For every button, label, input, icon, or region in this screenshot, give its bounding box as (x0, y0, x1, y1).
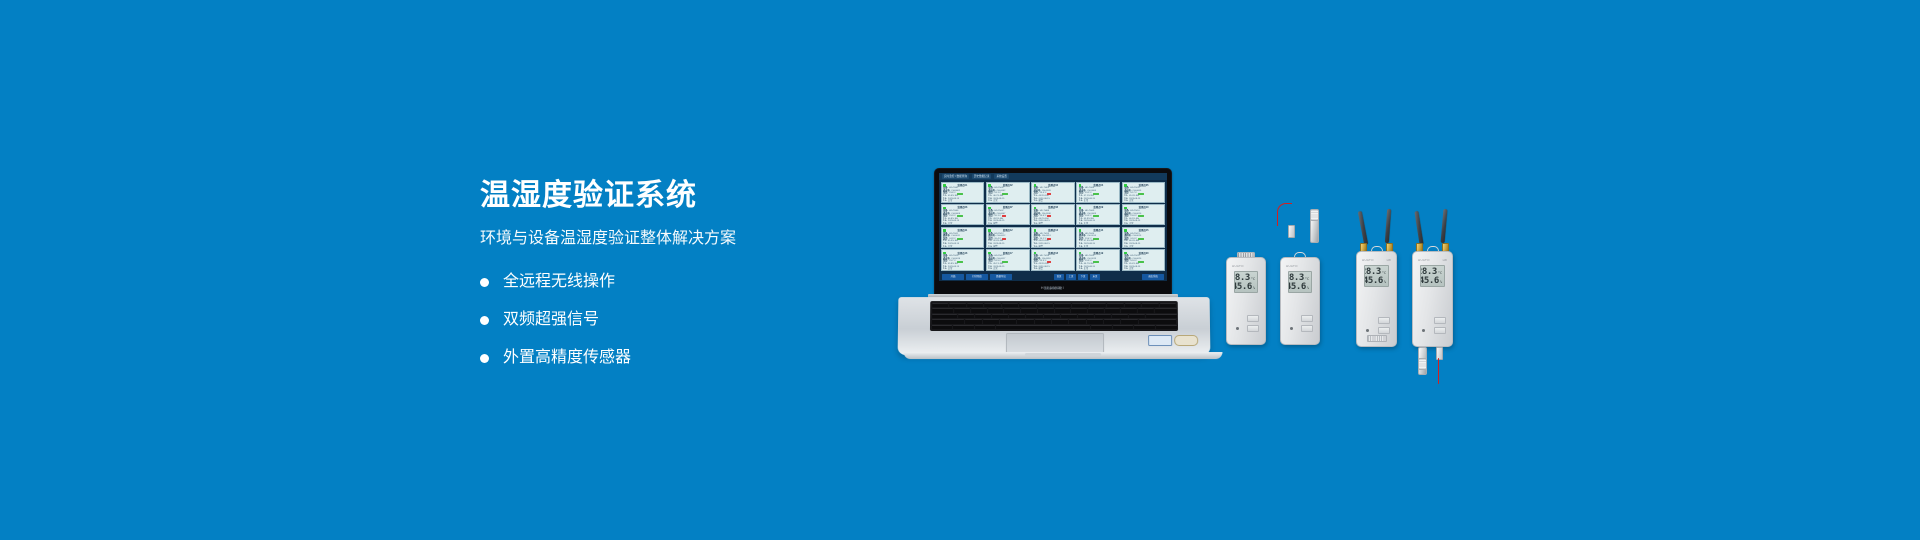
monitor-card[interactable]: 监测点19设备:HD-TH19通道号:CH-0019温度:23.3°CT-1:4… (1076, 249, 1120, 270)
device-brand: HUATO (1286, 264, 1298, 268)
monitor-card-row-value: 正常 (993, 200, 997, 202)
monitor-card-row: T-3:报警 (1034, 223, 1073, 225)
probe-connector (1288, 225, 1295, 238)
monitor-card-title: 监测点14 (1079, 229, 1118, 232)
monitor-card-row-key: T-3: (988, 246, 992, 248)
monitor-card-row: T-3:正常 (943, 246, 982, 248)
device-body: HUATO H8 28.3 °C 45.6 % MIN MAX (1412, 251, 1453, 347)
monitor-card[interactable]: 监测点06设备:HD-TH06通道号:CH-0006温度:23.9°CT-1:4… (941, 204, 985, 225)
monitor-card[interactable]: 监测点09设备:HD-TH09通道号:CH-0009温度:24.3°CT-1:4… (1076, 204, 1120, 225)
device-brand: HUATO (1362, 258, 1374, 262)
monitor-card-row-key: T-3: (1034, 246, 1038, 248)
monitor-card-title: 监测点05 (1124, 184, 1163, 187)
device-led-icon (1422, 329, 1425, 332)
device-brand-row: HUATO H8 (1418, 257, 1447, 262)
lcd-min-label: MIN (1237, 293, 1241, 294)
antenna-left-icon (1414, 211, 1423, 245)
laptop-product-image: 实时监控 / 数据查询 历史数据记录 系统设置 监测点01设备:HD-TH01通… (888, 168, 1218, 363)
monitor-card-row-value: 正常 (948, 223, 952, 225)
status-led-icon (988, 207, 991, 210)
monitor-card-row: T-3:正常 (1124, 200, 1163, 202)
monitor-card-row-key: T-3: (1079, 246, 1083, 248)
device-model: H8 (1443, 258, 1447, 262)
list-item: 外置高精度传感器 (480, 348, 900, 368)
device-lcd-display: 28.3 °C 45.6 % MIN MAX (1234, 271, 1258, 293)
app-footer-toolbar: 开始 打印预览 数据导出 首页 上页 下页 末页 退出系统 (939, 272, 1167, 281)
monitor-card-row-key: T-3: (943, 223, 947, 225)
sensor-vent-icon (1367, 335, 1387, 342)
device-lcd-display: 28.3 °C 45.6 % MIN MAX (1364, 265, 1389, 287)
lcd-humidity-value: 45.6 (1420, 277, 1439, 286)
lcd-min-label: MIN (1367, 287, 1371, 288)
bullet-icon (480, 316, 489, 325)
monitor-card-row-key: T-3: (1079, 268, 1083, 270)
laptop-sticker-spec (1148, 335, 1172, 346)
lcd-min-label: MIN (1423, 287, 1427, 288)
app-menu-bar: 实时监控 / 数据查询 历史数据记录 系统设置 (939, 173, 1167, 180)
monitor-card[interactable]: 监测点13设备:HD-TH13通道号:CH-0013温度:25.2°CT-1:4… (1031, 227, 1075, 248)
device-button-pad[interactable] (1378, 317, 1390, 336)
lcd-humidity-unit: % (1440, 281, 1442, 285)
monitor-grid-wrap: 监测点01设备:HD-TH01通道号:CH-0001温度:23.8°CT-1:4… (939, 180, 1167, 272)
laptop-display: 实时监控 / 数据查询 历史数据记录 系统设置 监测点01设备:HD-TH01通… (939, 173, 1167, 281)
monitor-card[interactable]: 监测点17设备:HD-TH17通道号:CH-0017温度:24.5°CT-1:4… (986, 249, 1030, 270)
exit-button[interactable]: 退出系统 (1142, 274, 1164, 280)
monitor-card-title: 监测点10 (1124, 206, 1163, 209)
monitor-card-row-value: 报警 (1038, 246, 1042, 248)
feature-label: 双频超强信号 (503, 310, 599, 330)
monitor-card-row: T-3:正常 (1079, 246, 1118, 248)
page-title: 温湿度验证系统 (480, 178, 900, 214)
status-led-icon (943, 184, 946, 187)
list-item: 全远程无线操作 (480, 272, 900, 292)
lcd-max-label: MAX (1437, 287, 1442, 288)
monitor-card-row-key: T-3: (943, 200, 947, 202)
monitor-card[interactable]: 监测点05设备:HD-TH05通道号:CH-0005温度:24.7°CT-1:4… (1122, 182, 1166, 203)
keyboard-row (932, 314, 1177, 319)
lcd-humidity-value: 45.6 (1234, 283, 1252, 292)
monitor-card[interactable]: 监测点12设备:HD-TH12通道号:CH-0012温度:26.4°CT-1:4… (986, 227, 1030, 248)
pager-next-button[interactable]: 下页 (1078, 274, 1088, 280)
keyboard-row (932, 308, 1177, 313)
page-subtitle: 环境与设备温湿度验证整体解决方案 (480, 228, 900, 250)
device-button-down[interactable] (1301, 325, 1313, 332)
monitor-card-row-key: T-3: (943, 268, 947, 270)
device-led-icon (1366, 329, 1369, 332)
monitor-card[interactable]: 监测点20设备:HD-TH20通道号:CH-0020温度:24.6°CT-1:4… (1122, 249, 1166, 270)
lcd-humidity-unit: % (1253, 287, 1255, 291)
lcd-min-label: MIN (1291, 293, 1295, 294)
monitor-card-row-value: 报警 (1038, 223, 1042, 225)
probe-cable (1277, 203, 1292, 226)
monitor-card-row-value: 正常 (1084, 268, 1088, 270)
device-button-down[interactable] (1247, 325, 1259, 332)
monitor-card-row-key: T-3: (1034, 200, 1038, 202)
monitor-card-row: T-3:报警 (988, 223, 1027, 225)
laptop-open-notch (1025, 353, 1101, 356)
monitor-card[interactable]: 监测点14设备:HD-TH14通道号:CH-0014温度:23.4°CT-1:4… (1076, 227, 1120, 248)
print-preview-button[interactable]: 打印预览 (966, 274, 988, 280)
monitor-card-title: 监测点03 (1034, 184, 1073, 187)
antenna-right-icon (1441, 209, 1448, 243)
monitor-card-title: 监测点19 (1079, 252, 1118, 255)
monitor-card-title: 监测点15 (1124, 229, 1163, 232)
device-lcd-display: 28.3 °C 45.6 % MIN MAX (1288, 271, 1312, 293)
antenna-right-icon (1385, 209, 1391, 243)
device-body: HUATO 28.3 °C 45.6 % MIN MAX (1226, 257, 1266, 345)
status-led-icon (1034, 229, 1037, 232)
probe-filter-cap-icon (1310, 209, 1318, 221)
status-led-icon (988, 229, 991, 232)
menu-item-history[interactable]: 历史数据记录 (972, 174, 992, 179)
monitor-card-row-value: 报警 (1038, 200, 1042, 202)
lcd-humidity-line: 45.6 % (1423, 277, 1442, 286)
pager-first-button[interactable]: 首页 (1054, 274, 1064, 280)
data-logger-basic: HUATO 28.3 °C 45.6 % MIN MAX (1226, 257, 1266, 345)
monitor-card-title: 监测点07 (988, 206, 1027, 209)
monitor-card-row-key: T-3: (1034, 268, 1038, 270)
antenna-left-icon (1358, 211, 1368, 245)
device-brand-row: HUATO (1286, 263, 1314, 268)
lcd-max-label: MAX (1381, 287, 1386, 288)
device-button-down[interactable] (1378, 327, 1390, 334)
monitor-card-row-value: 正常 (1129, 223, 1133, 225)
monitor-card-title: 监测点18 (1034, 252, 1073, 255)
monitor-card[interactable]: 监测点03设备:HD-TH03通道号:CH-0003温度:25.4°CT-1:4… (1031, 182, 1075, 203)
device-button-up[interactable] (1378, 317, 1390, 324)
monitor-card-row: T-3:正常 (988, 268, 1027, 270)
device-body: HUATO 28.3 °C 45.6 % MIN MAX (1280, 257, 1320, 345)
keyboard-row (932, 303, 1177, 308)
device-product-images: HUATO 28.3 °C 45.6 % MIN MAX (1220, 215, 1520, 405)
monitor-card-row: T-3:报警 (988, 246, 1027, 248)
wireless-logger-right: HUATO H8 28.3 °C 45.6 % MIN MAX (1412, 251, 1453, 347)
monitor-card-row-value: 报警 (1038, 268, 1042, 270)
lcd-minmax-row: MIN MAX (1423, 287, 1442, 288)
monitor-card[interactable]: 监测点08设备:HD-TH08通道号:CH-0008温度:25.8°CT-1:4… (1031, 204, 1075, 225)
monitor-card-row-key: T-3: (1124, 268, 1128, 270)
lcd-humidity-line: 45.6 % (1367, 277, 1386, 286)
monitor-card-row-key: T-3: (1124, 223, 1128, 225)
monitor-card-row: T-3:报警 (1034, 200, 1073, 202)
device-led-icon (1236, 327, 1239, 330)
device-model: H8 (1387, 258, 1391, 262)
feature-label: 全远程无线操作 (503, 272, 615, 292)
monitor-card-title: 监测点09 (1079, 206, 1118, 209)
probe-filter-cap-icon (1418, 358, 1426, 370)
keyboard-row (931, 325, 1176, 330)
monitor-card-row-key: T-3: (943, 246, 947, 248)
laptop-trackpad[interactable] (1006, 333, 1104, 353)
monitor-card-title: 监测点06 (943, 206, 982, 209)
lcd-humidity-unit: % (1384, 281, 1386, 285)
monitor-card-row-key: T-3: (1079, 200, 1083, 202)
start-button[interactable]: 开始 (942, 274, 964, 280)
wireless-logger-left: HUATO H8 28.3 °C 45.6 % MIN MAX (1356, 251, 1397, 347)
monitor-card[interactable]: 监测点02设备:HD-TH02通道号:CH-0002温度:24.1°CT-1:4… (986, 182, 1030, 203)
monitoring-app: 实时监控 / 数据查询 历史数据记录 系统设置 监测点01设备:HD-TH01通… (939, 173, 1167, 281)
monitor-card-row-value: 正常 (993, 268, 997, 270)
lcd-humidity-value: 45.6 (1288, 283, 1306, 292)
monitor-card-row-key: T-3: (988, 268, 992, 270)
device-lcd-display: 28.3 °C 45.6 % MIN MAX (1420, 265, 1445, 287)
device-button-pad[interactable] (1434, 317, 1446, 336)
monitor-card-row: T-3:正常 (943, 200, 982, 202)
monitor-card-row-value: 正常 (1084, 200, 1088, 202)
monitor-card-row: T-3:正常 (1124, 246, 1163, 248)
product-banner: 温湿度验证系统 环境与设备温湿度验证整体解决方案 全远程无线操作 双频超强信号 … (0, 0, 1920, 540)
status-led-icon (943, 229, 946, 232)
status-led-icon (988, 184, 991, 187)
lcd-humidity-unit: % (1307, 287, 1309, 291)
probe-cable (1438, 358, 1439, 384)
bullet-icon (480, 354, 489, 363)
monitor-card-row: T-3:正常 (943, 223, 982, 225)
pager-prev-button[interactable]: 上页 (1066, 274, 1076, 280)
monitor-card[interactable]: 监测点01设备:HD-TH01通道号:CH-0001温度:23.8°CT-1:4… (941, 182, 985, 203)
device-button-up[interactable] (1434, 317, 1446, 324)
list-item: 双频超强信号 (480, 310, 900, 330)
monitor-card-row-key: T-3: (1034, 223, 1038, 225)
device-brand: HUATO (1232, 264, 1244, 268)
monitor-card-row: T-3:正常 (943, 268, 982, 270)
monitor-card-title: 监测点16 (943, 252, 982, 255)
monitor-card-title: 监测点20 (1124, 252, 1163, 255)
banner-copy: 温湿度验证系统 环境与设备温湿度验证整体解决方案 全远程无线操作 双频超强信号 … (480, 178, 900, 386)
device-brand-row: HUATO H8 (1362, 257, 1391, 262)
monitor-card-row: T-3:报警 (1034, 246, 1073, 248)
lcd-humidity-line: 45.6 % (1291, 283, 1309, 292)
monitor-card-row-key: T-3: (1124, 246, 1128, 248)
monitor-card[interactable]: 监测点04设备:HD-TH04通道号:CH-0004温度:23.2°CT-1:4… (1076, 182, 1120, 203)
monitor-card-row-value: 正常 (1084, 246, 1088, 248)
menu-item-settings[interactable]: 系统设置 (994, 174, 1008, 179)
device-button-up[interactable] (1247, 315, 1259, 322)
humidity-probe (1418, 347, 1427, 375)
monitor-card-row-value: 正常 (948, 268, 952, 270)
lcd-humidity-value: 45.6 (1364, 277, 1383, 286)
laptop-brand-logo: HUAWEI (935, 281, 1171, 293)
monitor-card[interactable]: 监测点11设备:HD-TH11通道号:CH-0011温度:24.9°CT-1:4… (941, 227, 985, 248)
humidity-probe (1310, 215, 1319, 243)
monitor-card-row: T-3:正常 (1124, 268, 1163, 270)
monitor-card-title: 监测点13 (1034, 229, 1073, 232)
monitor-card-row-value: 正常 (1129, 268, 1133, 270)
device-brand-row: HUATO (1232, 263, 1260, 268)
export-data-button[interactable]: 数据导出 (990, 274, 1012, 280)
monitor-card-row-value: 报警 (993, 223, 997, 225)
monitor-card-row-key: T-3: (988, 200, 992, 202)
device-led-icon (1290, 327, 1293, 330)
monitor-card-title: 监测点01 (943, 184, 982, 187)
monitor-card-row: T-3:正常 (1079, 200, 1118, 202)
device-button-up[interactable] (1301, 315, 1313, 322)
data-logger-external-probe: HUATO 28.3 °C 45.6 % MIN MAX (1280, 257, 1320, 345)
device-body: HUATO H8 28.3 °C 45.6 % MIN MAX (1356, 251, 1397, 347)
monitor-card-row-value: 正常 (948, 200, 952, 202)
status-led-icon (1124, 229, 1127, 232)
monitor-card-title: 监测点02 (988, 184, 1027, 187)
lcd-humidity-line: 45.6 % (1237, 283, 1255, 292)
pager-last-button[interactable]: 末页 (1090, 274, 1100, 280)
monitor-card-row-value: 报警 (993, 246, 997, 248)
status-led-icon (1124, 207, 1127, 210)
monitor-card[interactable]: 监测点16设备:HD-TH16通道号:CH-0016温度:23.7°CT-1:4… (941, 249, 985, 270)
laptop-lid: 实时监控 / 数据查询 历史数据记录 系统设置 监测点01设备:HD-TH01通… (934, 168, 1172, 296)
device-button-pad[interactable] (1247, 315, 1259, 334)
feature-list: 全远程无线操作 双频超强信号 外置高精度传感器 (480, 272, 900, 368)
monitor-card-title: 监测点12 (988, 229, 1027, 232)
monitor-card-row-value: 正常 (1129, 246, 1133, 248)
menu-item-realtime[interactable]: 实时监控 / 数据查询 (942, 174, 969, 179)
monitor-card-title: 监测点04 (1079, 184, 1118, 187)
monitor-card[interactable]: 监测点18设备:HD-TH18通道号:CH-0018温度:25.9°CT-1:4… (1031, 249, 1075, 270)
monitor-card-row-value: 正常 (948, 246, 952, 248)
monitor-card[interactable]: 监测点15设备:HD-TH15通道号:CH-0015温度:24.0°CT-1:4… (1122, 227, 1166, 248)
status-led-icon (1034, 184, 1037, 187)
monitor-card-row-key: T-3: (1079, 223, 1083, 225)
monitor-card-title: 监测点11 (943, 229, 982, 232)
device-brand: HUATO (1418, 258, 1430, 262)
lcd-minmax-row: MIN MAX (1291, 293, 1309, 294)
monitor-grid: 监测点01设备:HD-TH01通道号:CH-0001温度:23.8°CT-1:4… (941, 182, 1166, 271)
keyboard-row (932, 319, 1177, 324)
lcd-minmax-row: MIN MAX (1367, 287, 1386, 288)
monitor-card-row-key: T-3: (1124, 200, 1128, 202)
bullet-icon (480, 278, 489, 287)
laptop-keyboard[interactable] (930, 301, 1178, 331)
monitor-card[interactable]: 监测点10设备:HD-TH10通道号:CH-0010温度:23.6°CT-1:4… (1122, 204, 1166, 225)
device-button-down[interactable] (1434, 327, 1446, 334)
laptop-front-lip (904, 352, 1223, 359)
monitor-card-row: T-3:正常 (1079, 268, 1118, 270)
monitor-card-title: 监测点08 (1034, 206, 1073, 209)
device-button-pad[interactable] (1301, 315, 1313, 334)
feature-label: 外置高精度传感器 (503, 348, 631, 368)
monitor-card-row-value: 正常 (1084, 223, 1088, 225)
lcd-minmax-row: MIN MAX (1237, 293, 1255, 294)
monitor-card-row: T-3:正常 (988, 200, 1027, 202)
status-led-icon (1124, 184, 1127, 187)
lcd-max-label: MAX (1304, 293, 1309, 294)
lcd-max-label: MAX (1250, 293, 1255, 294)
monitor-card-row-key: T-3: (988, 223, 992, 225)
monitor-card-row: T-3:正常 (1124, 223, 1163, 225)
monitor-card-title: 监测点17 (988, 252, 1027, 255)
monitor-card-row: T-3:正常 (1079, 223, 1118, 225)
laptop-base (898, 297, 1211, 355)
laptop-sticker-brand (1174, 335, 1198, 346)
monitor-card[interactable]: 监测点07设备:HD-TH07通道号:CH-0007温度:26.1°CT-1:4… (986, 204, 1030, 225)
monitor-card-row-value: 正常 (1129, 200, 1133, 202)
monitor-card-row: T-3:报警 (1034, 268, 1073, 270)
